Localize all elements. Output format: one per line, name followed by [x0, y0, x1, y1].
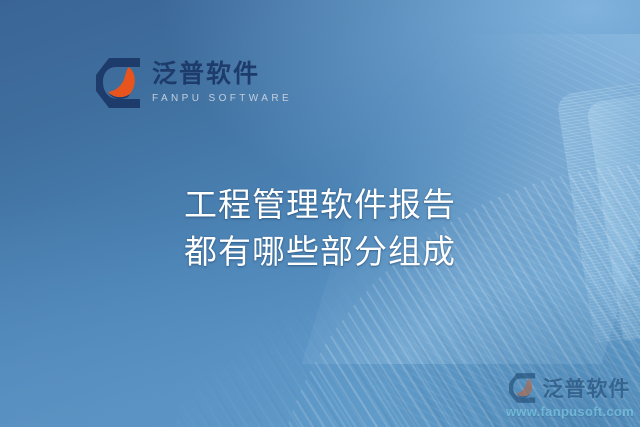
page-title: 工程管理软件报告 都有哪些部分组成 [0, 181, 640, 275]
brand-name-en: FANPU SOFTWARE [152, 94, 292, 104]
brand-name-cn: 泛普软件 [152, 62, 292, 87]
watermark: 泛普软件 www.fanpusoft.com [506, 373, 634, 419]
brand-wordmark: 泛普软件 FANPU SOFTWARE [152, 62, 292, 104]
fanpu-logo-icon [509, 373, 537, 403]
watermark-name-cn: 泛普软件 [542, 373, 630, 403]
watermark-lockup: 泛普软件 [509, 373, 630, 403]
brand-lockup: 泛普软件 FANPU SOFTWARE [96, 58, 292, 108]
page-title-line-1: 工程管理软件报告 [0, 181, 640, 228]
page-title-line-2: 都有哪些部分组成 [0, 228, 640, 275]
fanpu-logo-icon [96, 58, 143, 108]
promo-banner: 泛普软件 FANPU SOFTWARE 工程管理软件报告 都有哪些部分组成 泛普… [0, 0, 640, 427]
watermark-url: www.fanpusoft.com [506, 404, 634, 419]
